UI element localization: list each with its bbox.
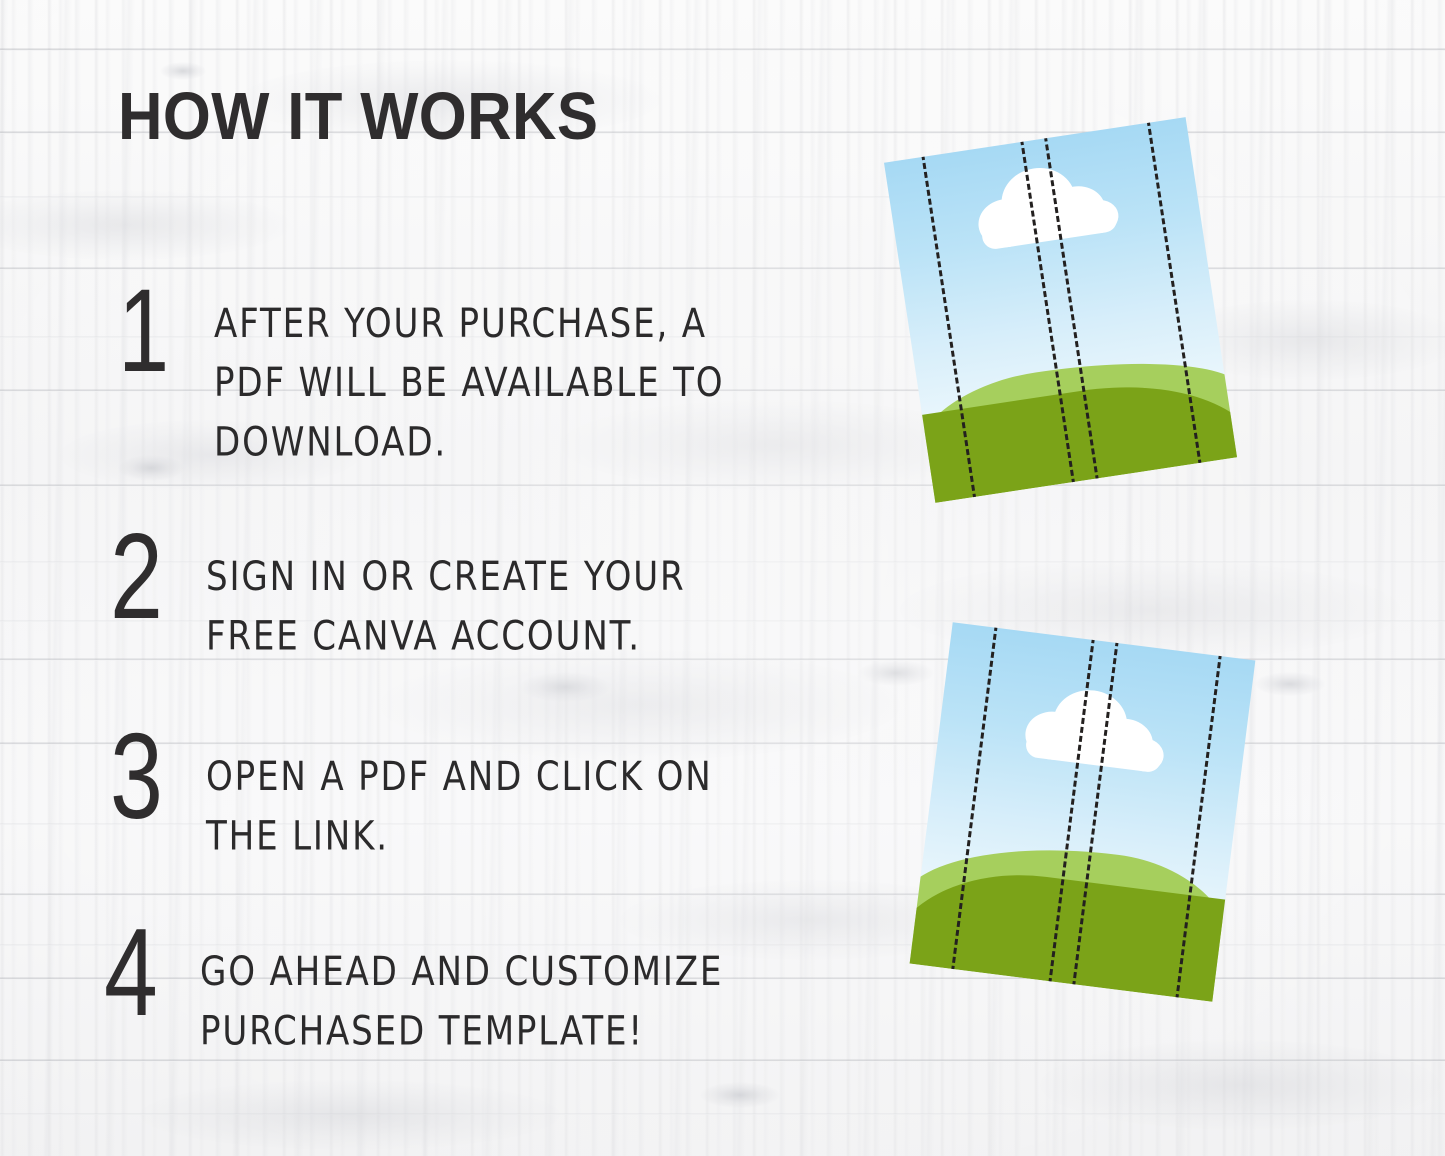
how-it-works-graphic: HOW IT WORKS 1 After your purchase, a PD… (0, 0, 1445, 1156)
wood-knot (858, 660, 934, 686)
step-number: 3 (110, 724, 185, 829)
step-description: After your purchase, a PDF will be avail… (214, 281, 724, 473)
step-description: Go ahead and customize purchased templat… (200, 920, 723, 1062)
wood-knot (520, 672, 610, 702)
step-number: 4 (104, 920, 179, 1027)
step-number: 2 (110, 524, 185, 629)
step-description: Sign in or create your free Canva accoun… (206, 524, 686, 667)
wood-knot (1255, 672, 1325, 696)
list-item-step-1: 1 After your purchase, a PDF will be ava… (118, 281, 746, 450)
template-preview-bottom (910, 622, 1256, 1002)
page-title: HOW IT WORKS (118, 83, 598, 150)
cloud-icon (972, 163, 1121, 251)
list-item-step-4: 4 Go ahead and customize purchased templ… (104, 920, 745, 1044)
step-number: 1 (118, 281, 193, 382)
list-item-step-3: 3 Open a PDF and click on the link. (110, 724, 734, 849)
wood-knot (160, 62, 206, 80)
plank-seam (0, 267, 1445, 270)
wood-knot (118, 455, 184, 481)
template-preview-top (884, 117, 1237, 503)
plank-seam (0, 48, 1445, 51)
list-item-step-2: 2 Sign in or create your free Canva acco… (110, 524, 706, 649)
wood-knot (700, 1082, 780, 1108)
cloud-icon (1023, 689, 1170, 774)
step-description: Open a PDF and click on the link. (206, 724, 713, 867)
wood-grain-blotch (140, 1080, 560, 1150)
wood-grain-blotch (1040, 1040, 1440, 1130)
